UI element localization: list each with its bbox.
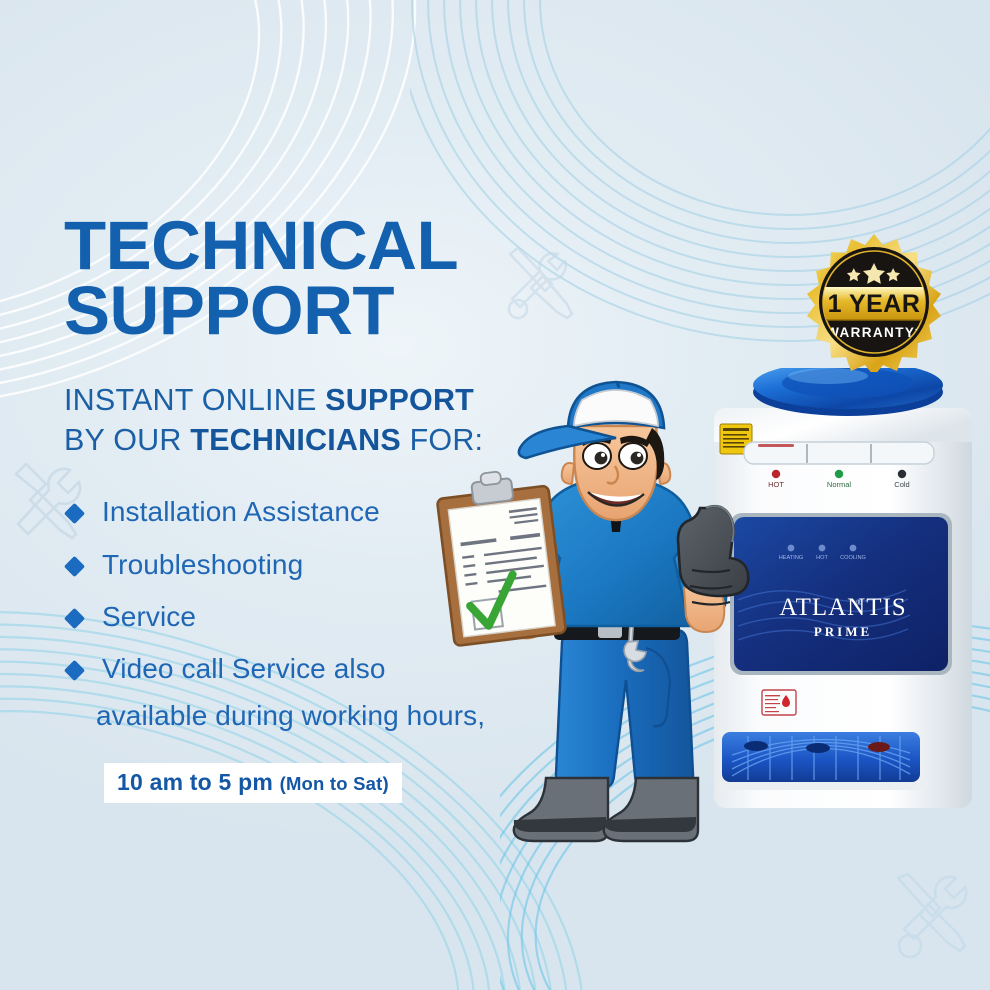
working-hours-days: (Mon to Sat) xyxy=(280,773,389,794)
copy-column: TECHNICAL SUPPORT INSTANT ONLINE SUPPORT… xyxy=(64,214,584,803)
feature-label: Video call Service also xyxy=(102,653,386,684)
subhead-part-3: FOR: xyxy=(401,423,483,457)
feature-label: Service xyxy=(102,601,196,632)
diamond-bullet-icon xyxy=(64,608,85,629)
feature-label-continuation: available during working hours, xyxy=(96,700,584,731)
working-hours-time: 10 am to 5 pm xyxy=(117,769,280,795)
diamond-bullet-icon xyxy=(64,660,85,681)
wrench-screwdriver-icon xyxy=(882,872,982,978)
panel-label-cooling: COOLING xyxy=(840,555,866,561)
working-hours-badge: 10 am to 5 pm (Mon to Sat) xyxy=(104,763,402,803)
subhead-part-2: BY OUR xyxy=(64,423,190,457)
dispenser-brand-trademark: ® xyxy=(856,598,862,607)
list-item: Video call Service also available during… xyxy=(64,653,584,731)
feature-list: Installation Assistance Troubleshooting … xyxy=(64,496,584,731)
feature-label: Troubleshooting xyxy=(102,549,303,580)
diamond-bullet-icon xyxy=(64,555,85,576)
status-badge: 1 YEAR WARRANTY* xyxy=(798,232,950,372)
badge-years: 1 YEAR xyxy=(828,290,921,318)
diamond-bullet-icon xyxy=(64,503,85,524)
poster-canvas: TECHNICAL SUPPORT INSTANT ONLINE SUPPORT… xyxy=(0,0,990,990)
subhead-bold-1: SUPPORT xyxy=(325,383,474,417)
tap-label-cold: Cold xyxy=(894,480,909,489)
subheadline: INSTANT ONLINE SUPPORT BY OUR TECHNICIAN… xyxy=(64,380,584,461)
list-item: Service xyxy=(64,601,584,632)
subhead-bold-2: TECHNICIANS xyxy=(190,423,401,457)
subhead-part-1: INSTANT ONLINE xyxy=(64,383,325,417)
thumbs-up-glove-icon xyxy=(678,506,748,604)
list-item: Installation Assistance xyxy=(64,496,584,527)
led-panel-hot xyxy=(819,545,826,552)
badge-warranty: WARRANTY* xyxy=(826,325,922,340)
dispenser-model: PRIME xyxy=(814,624,872,639)
led-normal xyxy=(835,470,843,478)
list-item: Troubleshooting xyxy=(64,549,584,580)
panel-label-hot: HOT xyxy=(816,555,828,561)
led-cooling xyxy=(850,545,857,552)
tap-label-normal: Normal xyxy=(827,480,852,489)
page-title: TECHNICAL SUPPORT xyxy=(64,214,584,344)
headline-line-2: SUPPORT xyxy=(64,279,584,344)
feature-label: Installation Assistance xyxy=(102,496,380,527)
led-cold xyxy=(898,470,906,478)
